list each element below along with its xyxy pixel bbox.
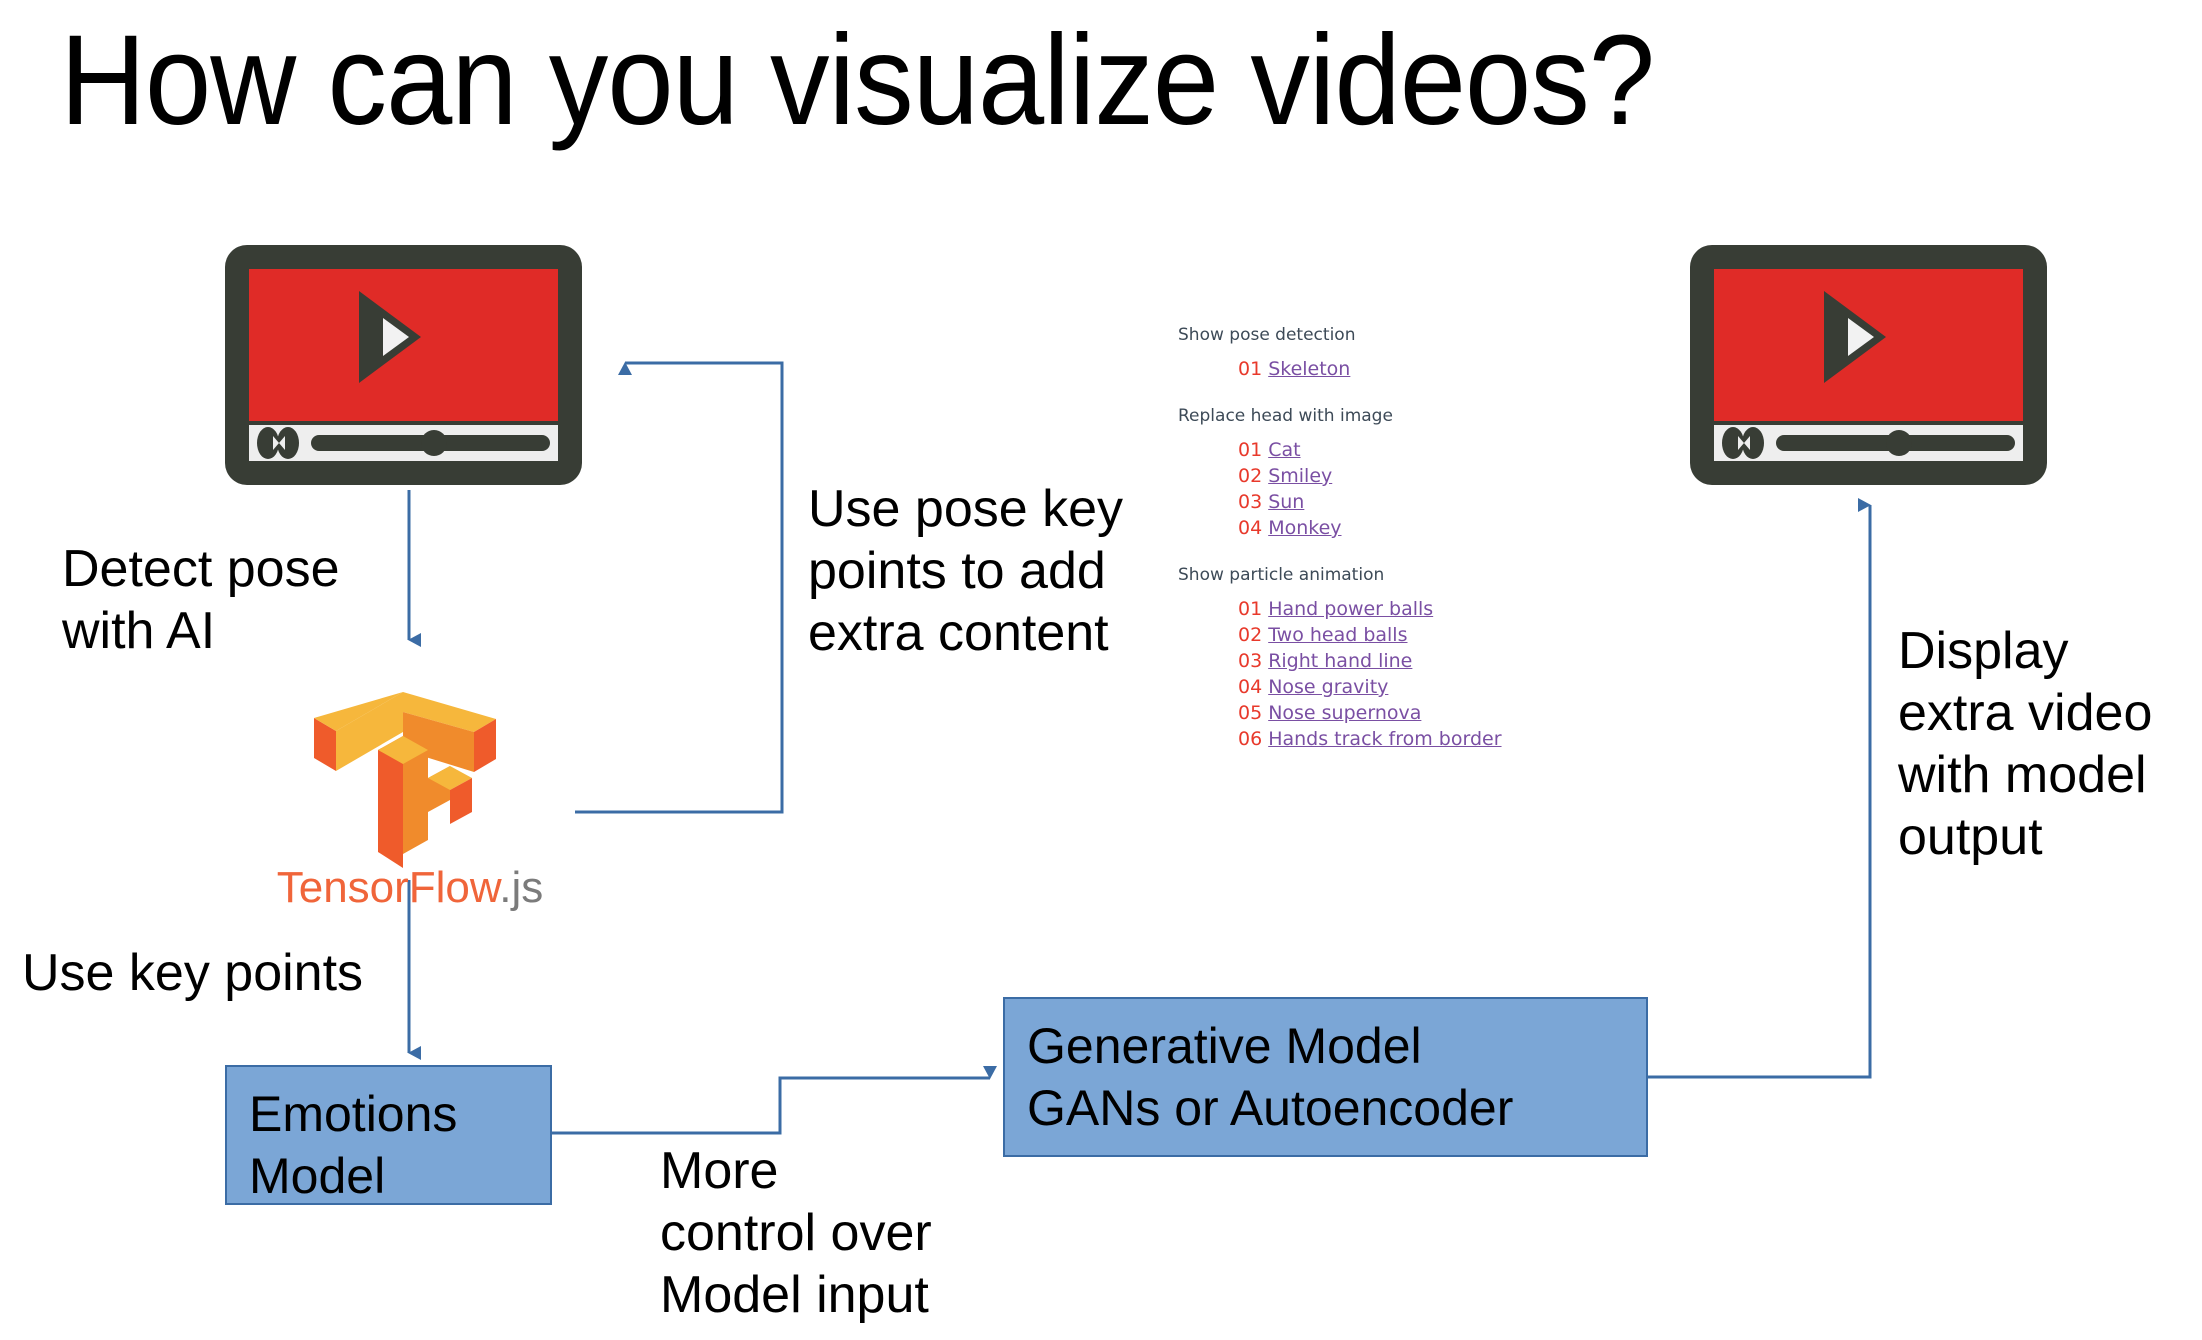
tensorflow-wordmark: TensorFlow.js (245, 862, 575, 914)
snippet-item[interactable]: 05Nose supernova (1238, 700, 1538, 726)
snippet-item-link[interactable]: Sun (1268, 491, 1304, 513)
video-control-bar[interactable] (1714, 425, 2023, 461)
label-more-control: More control over Model input (660, 1140, 1060, 1326)
snippet-item[interactable]: 06Hands track from border (1238, 726, 1538, 752)
snippet-item-link[interactable]: Skeleton (1268, 358, 1350, 380)
connector-display-extra-video (1648, 505, 1870, 1077)
snippet-item-number: 02 (1238, 465, 1262, 487)
snippet-item-link[interactable]: Hand power balls (1268, 598, 1433, 620)
video-progress-knob[interactable] (421, 430, 447, 456)
snippet-item-link[interactable]: Right hand line (1268, 650, 1412, 672)
snippet-group: Show particle animation 01Hand power bal… (1178, 565, 1538, 752)
playback-toggle-icon[interactable] (1722, 427, 1766, 459)
connector-use-pose-key-points (575, 363, 782, 812)
demo-menu-snippet: Show pose detection 01Skeleton Replace h… (1178, 325, 1538, 752)
label-detect-pose: Detect pose with AI (62, 538, 462, 662)
tensorflow-wordmark-grey: .js (499, 863, 543, 912)
snippet-item[interactable]: 01Hand power balls (1238, 596, 1538, 622)
snippet-item[interactable]: 01Cat (1238, 437, 1538, 463)
snippet-item-link[interactable]: Smiley (1268, 465, 1332, 487)
snippet-item[interactable]: 01Skeleton (1238, 356, 1538, 382)
label-use-key-points: Use key points (22, 942, 462, 1004)
snippet-group-heading: Show pose detection (1178, 325, 1538, 346)
snippet-item-number: 03 (1238, 491, 1262, 513)
snippet-item-link[interactable]: Nose gravity (1268, 676, 1388, 698)
play-icon-inner (383, 318, 409, 356)
output-video-player[interactable] (1690, 245, 2047, 485)
page-title: How can you visualize videos? (60, 8, 1976, 153)
video-control-bar[interactable] (249, 425, 558, 461)
snippet-group: Show pose detection 01Skeleton (1178, 325, 1538, 382)
snippet-item-link[interactable]: Hands track from border (1268, 728, 1501, 750)
video-progress-knob[interactable] (1886, 430, 1912, 456)
box-emotions-model[interactable]: Emotions Model (225, 1065, 552, 1205)
label-display-extra-video: Display extra video with model output (1898, 620, 2198, 868)
slide-canvas: How can you visualize videos? (0, 0, 2202, 1340)
snippet-item-number: 05 (1238, 702, 1262, 724)
snippet-item-link[interactable]: Nose supernova (1268, 702, 1421, 724)
connector-more-control (551, 1078, 990, 1133)
snippet-item[interactable]: 02Two head balls (1238, 622, 1538, 648)
snippet-item-number: 04 (1238, 676, 1262, 698)
video-progress-track[interactable] (311, 435, 550, 451)
snippet-item-number: 01 (1238, 358, 1262, 380)
tensorflow-wordmark-orange: TensorFlow (277, 863, 500, 912)
snippet-item[interactable]: 03Right hand line (1238, 648, 1538, 674)
snippet-item[interactable]: 02Smiley (1238, 463, 1538, 489)
snippet-item-link[interactable]: Two head balls (1268, 624, 1407, 646)
snippet-item[interactable]: 04Monkey (1238, 515, 1538, 541)
input-video-player[interactable] (225, 245, 582, 485)
snippet-item-link[interactable]: Cat (1268, 439, 1300, 461)
snippet-group-heading: Replace head with image (1178, 406, 1538, 427)
snippet-item-number: 04 (1238, 517, 1262, 539)
snippet-item-link[interactable]: Monkey (1268, 517, 1341, 539)
snippet-group: Replace head with image 01Cat 02Smiley 0… (1178, 406, 1538, 541)
snippet-item-number: 01 (1238, 439, 1262, 461)
snippet-item-number: 01 (1238, 598, 1262, 620)
tensorflow-logo-icon (300, 690, 510, 870)
video-progress-track[interactable] (1776, 435, 2015, 451)
box-generative-model[interactable]: Generative Model GANs or Autoencoder (1003, 997, 1648, 1157)
snippet-item-number: 02 (1238, 624, 1262, 646)
label-use-pose-key-points: Use pose key points to add extra content (808, 478, 1208, 664)
snippet-item[interactable]: 03Sun (1238, 489, 1538, 515)
snippet-item-number: 03 (1238, 650, 1262, 672)
snippet-item[interactable]: 04Nose gravity (1238, 674, 1538, 700)
play-icon-inner (1848, 318, 1874, 356)
snippet-item-number: 06 (1238, 728, 1262, 750)
snippet-group-heading: Show particle animation (1178, 565, 1538, 586)
playback-toggle-icon[interactable] (257, 427, 301, 459)
